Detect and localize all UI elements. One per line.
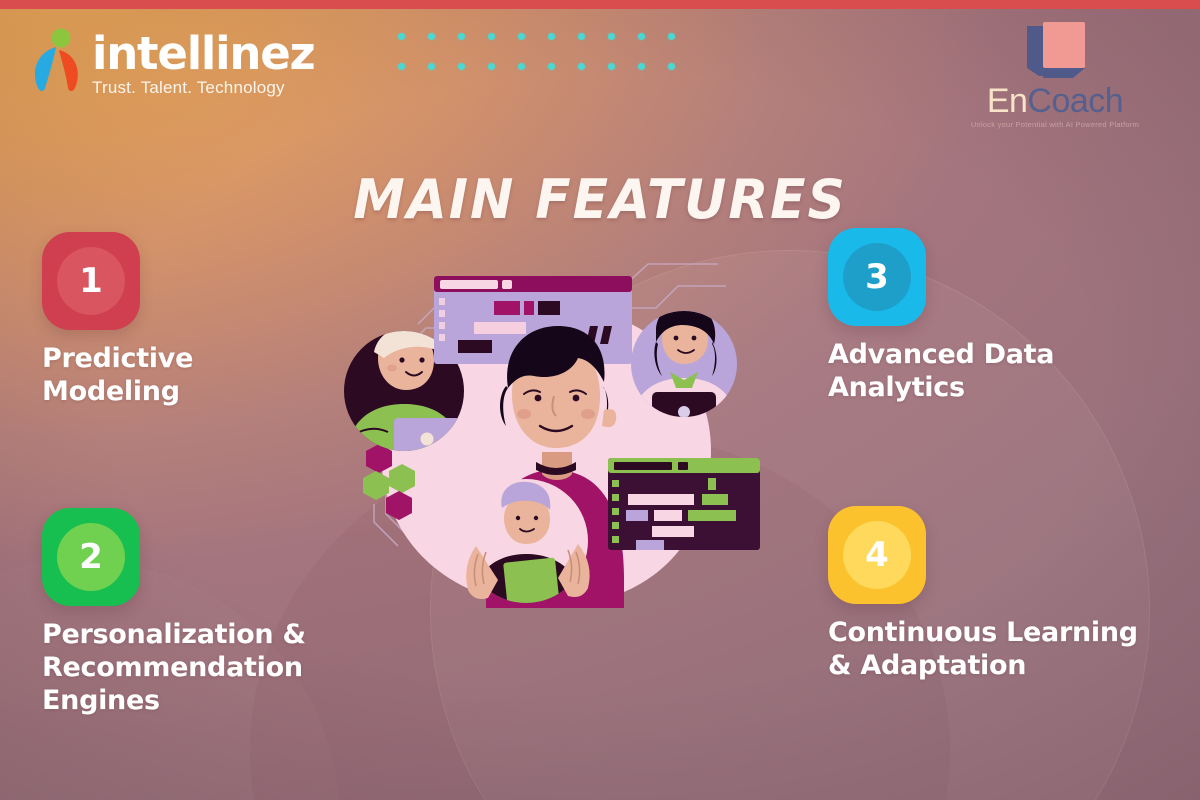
dot-grid-decoration <box>398 33 698 93</box>
feature-item-4[interactable]: 4 Continuous Learning & Adaptation <box>828 506 1198 682</box>
grid-dot <box>578 33 585 40</box>
encoach-name-part1: En <box>987 82 1028 120</box>
page-title: MAIN FEATURES <box>24 168 1176 231</box>
grid-dot <box>428 63 435 70</box>
feature-number-3: 3 <box>865 260 889 294</box>
grid-dot <box>548 33 555 40</box>
encoach-logo[interactable]: EnCoach Unlock your Potential with AI Po… <box>965 20 1145 132</box>
encoach-book-icon <box>1005 20 1105 82</box>
encoach-name-part2: Coach <box>1027 82 1123 120</box>
grid-dot <box>488 63 495 70</box>
grid-dot <box>548 63 555 70</box>
grid-dot <box>518 63 525 70</box>
feature-badge-2: 2 <box>42 508 140 606</box>
code-window <box>608 458 760 550</box>
encoach-tagline: Unlock your Potential with AI Powered Pl… <box>965 120 1145 129</box>
top-accent-bar <box>0 0 1200 9</box>
grid-dot <box>608 63 615 70</box>
intellinez-tagline: Trust. Talent. Technology <box>92 78 315 98</box>
feature-number-2: 2 <box>79 540 103 574</box>
feature-number-1: 1 <box>79 264 103 298</box>
grid-dot <box>638 33 645 40</box>
feature-badge-3: 3 <box>828 228 926 326</box>
intellinez-wordmark: intellinez Trust. Talent. Technology <box>92 28 315 98</box>
feature-badge-4: 4 <box>828 506 926 604</box>
grid-dot <box>458 63 465 70</box>
feature-item-3[interactable]: 3 Advanced Data Analytics <box>828 228 1198 404</box>
team-collaboration-illustration <box>326 246 776 636</box>
grid-dot <box>488 33 495 40</box>
intellinez-logo-mark <box>28 28 86 94</box>
grid-dot <box>398 33 405 40</box>
grid-dot <box>608 33 615 40</box>
feature-label-3: Advanced Data Analytics <box>828 338 1198 404</box>
feature-badge-1: 1 <box>42 232 140 330</box>
encoach-wordmark: EnCoach <box>965 84 1145 118</box>
intellinez-name: intellinez <box>92 28 315 80</box>
grid-dot <box>668 33 675 40</box>
grid-dot <box>638 63 645 70</box>
feature-number-4: 4 <box>865 538 889 572</box>
feature-label-4: Continuous Learning & Adaptation <box>828 616 1198 682</box>
grid-dot <box>428 33 435 40</box>
grid-dot <box>518 33 525 40</box>
intellinez-logo[interactable]: intellinez Trust. Talent. Technology <box>28 28 315 98</box>
infographic-canvas: intellinez Trust. Talent. Technology EnC… <box>0 0 1200 800</box>
grid-dot <box>578 63 585 70</box>
grid-dot <box>458 33 465 40</box>
grid-dot <box>398 63 405 70</box>
grid-dot <box>668 63 675 70</box>
